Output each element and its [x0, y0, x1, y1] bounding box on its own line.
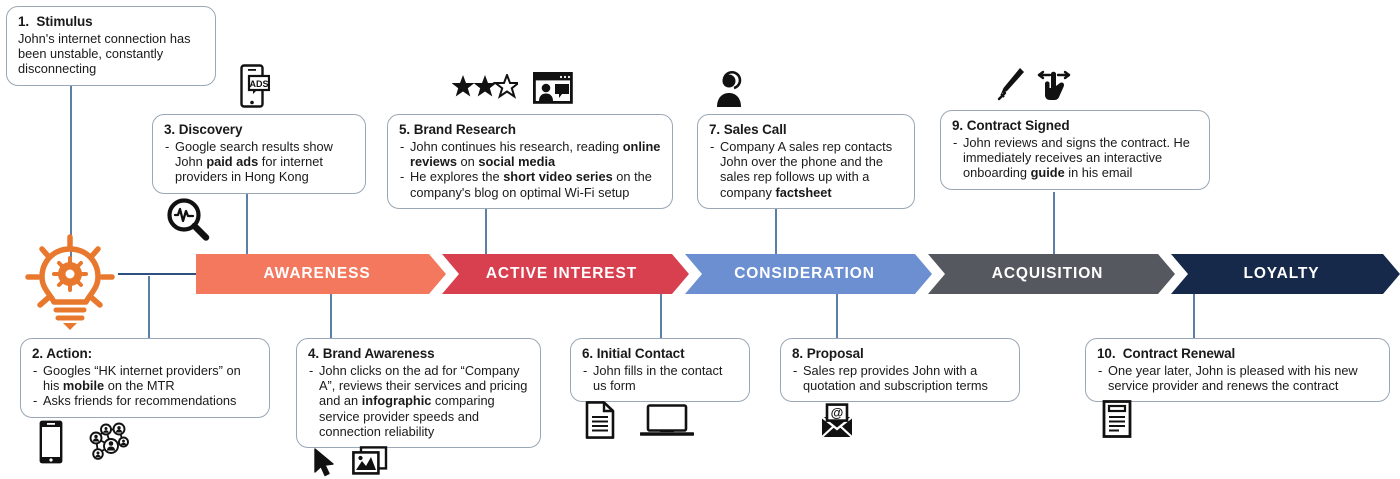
- step-lines: One year later, John is pleased with his…: [1097, 363, 1378, 393]
- step-lines: John fills in the contact us form: [582, 363, 738, 393]
- step-number: 6.: [582, 346, 593, 361]
- step-box-5[interactable]: 5. Brand Research John continues his res…: [387, 114, 673, 209]
- step-heading: Discovery: [179, 122, 243, 137]
- step-lines: John reviews and signs the contract. He …: [952, 135, 1198, 181]
- step-line: Company A sales rep contacts John over t…: [709, 139, 903, 200]
- step-box-4[interactable]: 4. Brand Awareness John clicks on the ad…: [296, 338, 541, 448]
- image-gallery-icon: [352, 446, 388, 476]
- star-rating-icon: [452, 74, 518, 100]
- mobile-ads-icon: ADS: [240, 64, 270, 108]
- connector-bulb-to-funnel: [118, 273, 200, 275]
- step-title: 2. Action:: [32, 346, 258, 362]
- step-box-3[interactable]: 3. Discovery Google search results show …: [152, 114, 366, 194]
- step-title: 8. Proposal: [792, 346, 1008, 362]
- step-number: 7.: [709, 122, 720, 137]
- step-line: John fills in the contact us form: [582, 363, 738, 393]
- step-title: 7. Sales Call: [709, 122, 903, 138]
- step-number: 1.: [18, 14, 29, 29]
- headset-agent-icon: [712, 70, 750, 108]
- step-line: One year later, John is pleased with his…: [1097, 363, 1378, 393]
- step-title: 3. Discovery: [164, 122, 354, 138]
- stage-awareness[interactable]: AWARENESS: [196, 254, 446, 294]
- stage-active-interest[interactable]: ACTIVE INTEREST: [442, 254, 689, 294]
- stage-label: ACQUISITION: [992, 265, 1104, 283]
- step-number: 9.: [952, 118, 963, 133]
- document-form-icon: [585, 401, 615, 439]
- step-line: John clicks on the ad for “Company A”, r…: [308, 363, 529, 439]
- step-box-6[interactable]: 6. Initial Contact John fills in the con…: [570, 338, 750, 402]
- stage-label: AWARENESS: [263, 265, 370, 283]
- step-box-8[interactable]: 8. Proposal Sales rep provides John with…: [780, 338, 1020, 402]
- step-lines: Googles “HK internet providers” on his m…: [32, 363, 258, 409]
- social-network-icon: [85, 420, 135, 464]
- step-heading: Stimulus: [36, 14, 92, 29]
- step-number: 2.: [32, 346, 43, 361]
- step-title: 9. Contract Signed: [952, 118, 1198, 134]
- step-line: John reviews and signs the contract. He …: [952, 135, 1198, 181]
- step-heading: Initial Contact: [597, 346, 685, 361]
- step-title: 5. Brand Research: [399, 122, 661, 138]
- step-box-2[interactable]: 2. Action: Googles “HK internet provider…: [20, 338, 270, 418]
- video-person-icon: [533, 72, 573, 104]
- step-heading: Contract Signed: [967, 118, 1070, 133]
- pen-signature-icon: [996, 66, 1026, 102]
- stage-label: ACTIVE INTEREST: [486, 265, 637, 283]
- step-title: 10. Contract Renewal: [1097, 346, 1378, 362]
- step-box-10[interactable]: 10. Contract Renewal One year later, Joh…: [1085, 338, 1390, 402]
- step-line: John's internet connection has been unst…: [18, 31, 204, 77]
- step-heading: Proposal: [807, 346, 864, 361]
- step-line: Asks friends for recommendations: [32, 393, 258, 408]
- step-number: 4.: [308, 346, 319, 361]
- step-heading: Sales Call: [724, 122, 787, 137]
- step-title: 6. Initial Contact: [582, 346, 738, 362]
- stage-label: LOYALTY: [1243, 265, 1319, 283]
- stage-label: CONSIDERATION: [734, 265, 875, 283]
- step-heading: Action:: [46, 346, 92, 361]
- step-title: 1. Stimulus: [18, 14, 204, 30]
- smartphone-icon: [38, 419, 64, 465]
- step-number: 10.: [1097, 346, 1115, 361]
- step-line: Sales rep provides John with a quotation…: [792, 363, 1008, 393]
- step-box-9[interactable]: 9. Contract Signed John reviews and sign…: [940, 110, 1210, 190]
- svg-text:@: @: [831, 405, 844, 420]
- journey-diagram: AWARENESS ACTIVE INTEREST CONSIDERATION …: [0, 0, 1400, 479]
- step-line: John continues his research, reading onl…: [399, 139, 661, 169]
- step-number: 8.: [792, 346, 803, 361]
- svg-text:ADS: ADS: [249, 79, 268, 89]
- step-line: He explores the short video series on th…: [399, 169, 661, 199]
- step-heading: Brand Awareness: [323, 346, 435, 361]
- step-number: 5.: [399, 122, 410, 137]
- step-lines: Sales rep provides John with a quotation…: [792, 363, 1008, 393]
- step-line: Googles “HK internet providers” on his m…: [32, 363, 258, 393]
- connector-step-2: [148, 276, 150, 338]
- step-box-7[interactable]: 7. Sales Call Company A sales rep contac…: [697, 114, 915, 209]
- step-lines: John continues his research, reading onl…: [399, 139, 661, 200]
- step-lines: Google search results show John paid ads…: [164, 139, 354, 185]
- search-analytics-icon: [165, 198, 213, 242]
- contract-document-icon: [1102, 400, 1132, 438]
- cursor-click-icon: [312, 448, 336, 478]
- step-number: 3.: [164, 122, 175, 137]
- swipe-hand-icon: [1037, 64, 1073, 102]
- step-title: 4. Brand Awareness: [308, 346, 529, 362]
- step-lines: John clicks on the ad for “Company A”, r…: [308, 363, 529, 439]
- lightbulb-gear-icon: [20, 232, 120, 332]
- stage-consideration[interactable]: CONSIDERATION: [685, 254, 932, 294]
- laptop-icon: [640, 404, 694, 438]
- step-heading: Contract Renewal: [1123, 346, 1235, 361]
- email-envelope-icon: @: [820, 403, 854, 439]
- step-box-1[interactable]: 1. Stimulus John's internet connection h…: [6, 6, 216, 86]
- stage-acquisition[interactable]: ACQUISITION: [928, 254, 1175, 294]
- step-lines: Company A sales rep contacts John over t…: [709, 139, 903, 200]
- step-lines: John's internet connection has been unst…: [18, 31, 204, 77]
- stage-loyalty[interactable]: LOYALTY: [1171, 254, 1400, 294]
- step-heading: Brand Research: [414, 122, 516, 137]
- step-line: Google search results show John paid ads…: [164, 139, 354, 185]
